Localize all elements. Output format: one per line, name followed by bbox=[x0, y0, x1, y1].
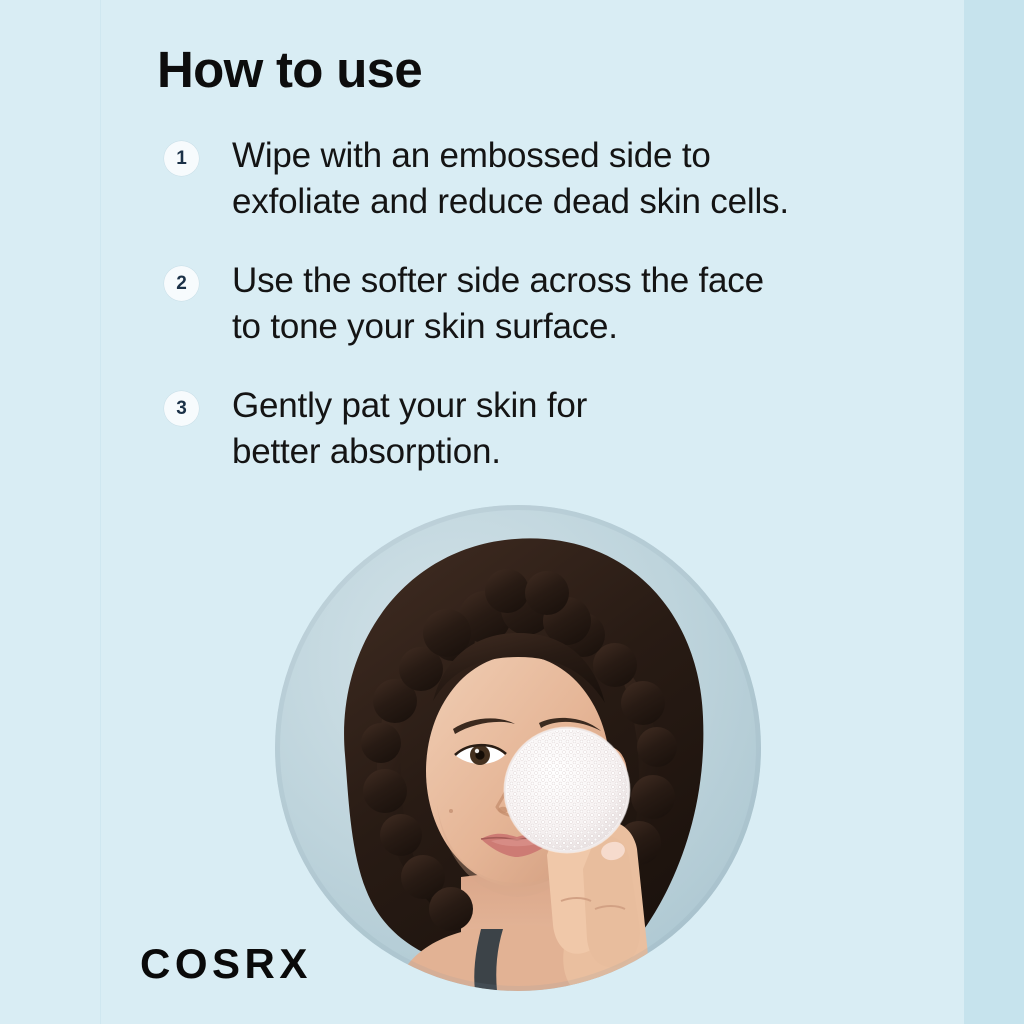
step-number-badge-1: 1 bbox=[164, 141, 199, 176]
list-item: 3 Gently pat your skin for better absorp… bbox=[0, 383, 1024, 488]
step-number-badge-2: 2 bbox=[164, 266, 199, 301]
step-line: to tone your skin surface. bbox=[232, 304, 912, 350]
step-line: Wipe with an embossed side to bbox=[232, 133, 912, 179]
exfoliating-pad bbox=[505, 728, 629, 852]
step-text-1: Wipe with an embossed side to exfoliate … bbox=[232, 133, 912, 225]
step-text-3: Gently pat your skin for better absorpti… bbox=[232, 383, 912, 475]
page-title: How to use bbox=[157, 42, 422, 98]
step-number-badge-3: 3 bbox=[164, 391, 199, 426]
how-to-use-infographic: How to use 1 Wipe with an embossed side … bbox=[0, 0, 1024, 1024]
list-item: 2 Use the softer side across the face to… bbox=[0, 258, 1024, 363]
step-line: Use the softer side across the face bbox=[232, 258, 912, 304]
step-line: exfoliate and reduce dead skin cells. bbox=[232, 179, 912, 225]
model-photo-circle bbox=[275, 505, 761, 991]
step-line: better absorption. bbox=[232, 429, 912, 475]
steps-list: 1 Wipe with an embossed side to exfoliat… bbox=[0, 133, 1024, 508]
list-item: 1 Wipe with an embossed side to exfoliat… bbox=[0, 133, 1024, 238]
model-photo-illustration bbox=[275, 505, 761, 991]
brand-logo: COSRX bbox=[140, 943, 312, 985]
step-text-2: Use the softer side across the face to t… bbox=[232, 258, 912, 350]
step-line: Gently pat your skin for bbox=[232, 383, 912, 429]
